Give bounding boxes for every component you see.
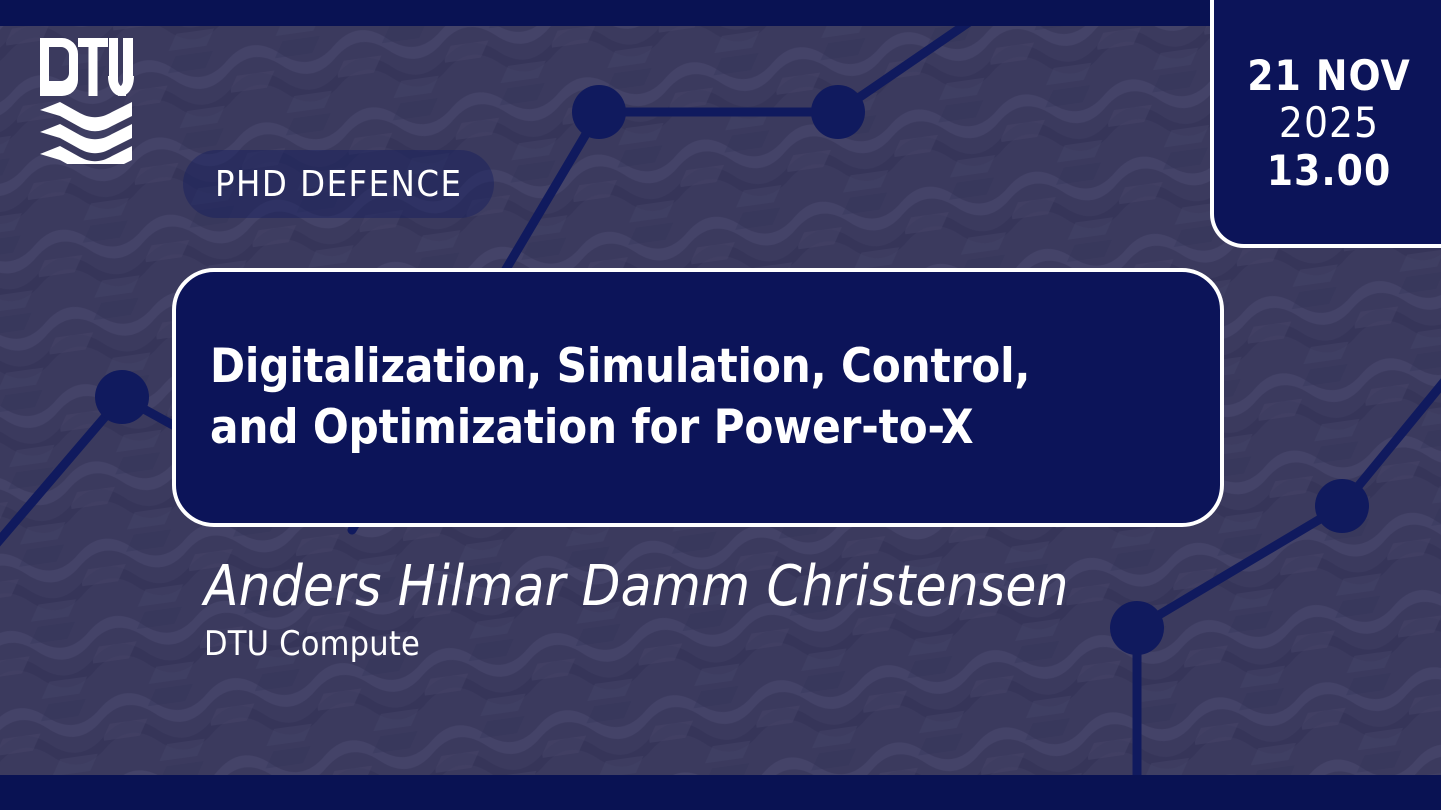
speaker-affiliation: DTU Compute	[204, 627, 1069, 663]
speaker-name: Anders Hilmar Damm Christensen	[204, 558, 1069, 617]
thesis-title: Digitalization, Simulation, Control, and…	[210, 337, 1030, 457]
dtu-logo-icon	[38, 36, 134, 164]
date-time: 13.00	[1267, 147, 1392, 194]
bottom-bar	[0, 775, 1441, 810]
thesis-title-line-2: and Optimization for Power-to-X	[210, 398, 1030, 458]
date-badge: 21 NOV 2025 13.00	[1210, 0, 1441, 248]
phd-defence-label: PHD DEFENCE	[215, 164, 462, 205]
date-year: 2025	[1279, 99, 1379, 146]
thesis-title-line-1: Digitalization, Simulation, Control,	[210, 337, 1030, 397]
speaker-block: Anders Hilmar Damm Christensen DTU Compu…	[204, 558, 1069, 662]
date-day: 21 NOV	[1247, 52, 1411, 99]
phd-defence-badge: PHD DEFENCE	[183, 150, 494, 218]
thesis-title-card: Digitalization, Simulation, Control, and…	[172, 268, 1224, 527]
poster-root: PHD DEFENCE Digitalization, Simulation, …	[0, 0, 1441, 810]
